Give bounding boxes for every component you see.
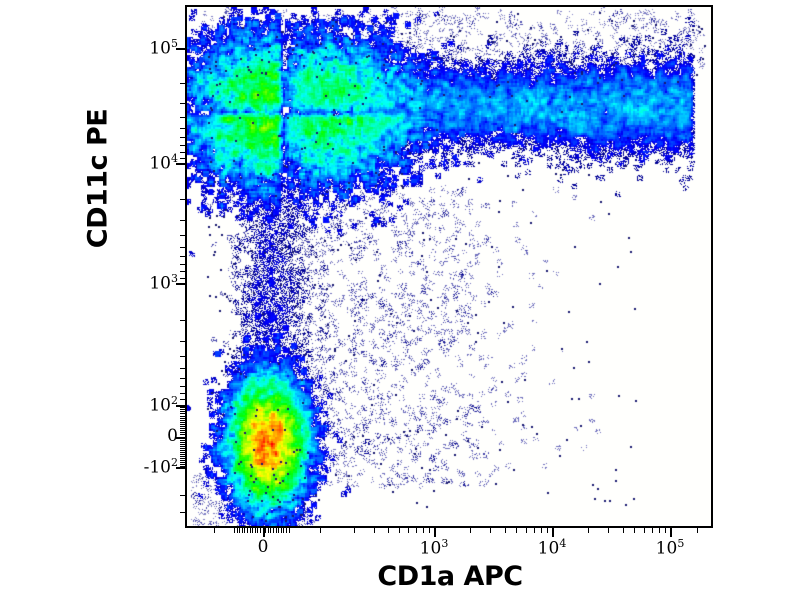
flow-cytometry-figure: 1051041031020-102 0103104105 CD11c PE CD…	[0, 0, 800, 600]
x-tick-label: 104	[512, 537, 592, 559]
x-tick-label: 105	[630, 537, 710, 559]
x-tick-label: 0	[223, 537, 303, 557]
x-axis-title: CD1a APC	[180, 561, 720, 592]
y-axis-title: CD11c PE	[83, 59, 114, 299]
x-axis-tick-labels: 0103104105	[0, 0, 800, 600]
x-tick-label: 103	[394, 537, 474, 559]
